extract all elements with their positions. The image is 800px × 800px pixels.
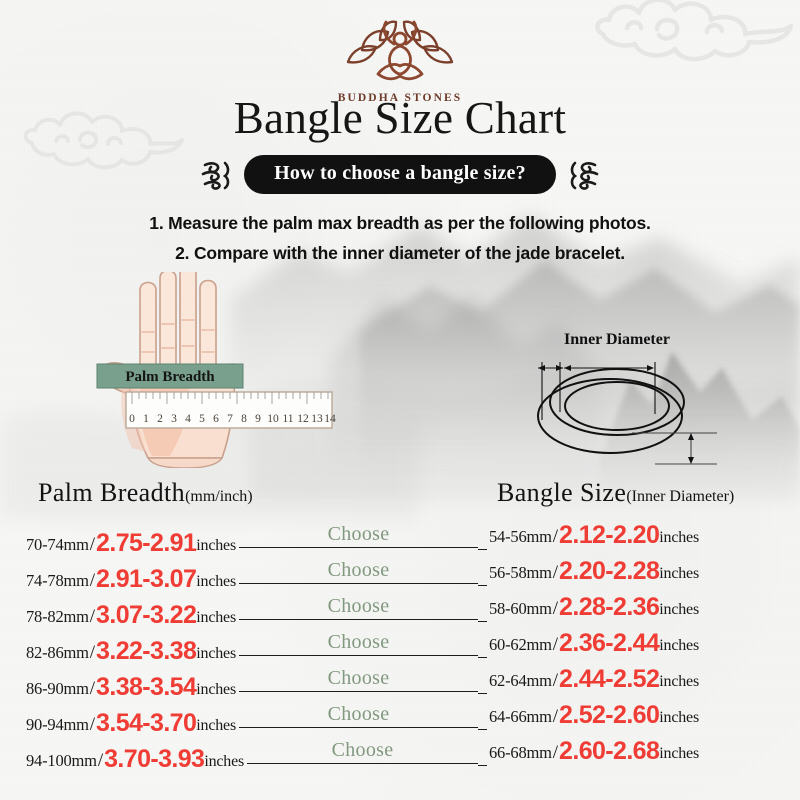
bangle-size-mm-value: 64-66mm: [489, 707, 552, 727]
svg-text:8: 8: [241, 413, 247, 425]
palm-breadth-heading: Palm Breadth(mm/inch): [38, 478, 253, 508]
bangle-ring-diagram: Inner Diameter: [505, 328, 730, 473]
palm-breadth-inch-value: 3.22-3.38: [96, 637, 196, 666]
palm-breadth-inch-value: 3.70-3.93: [104, 745, 204, 774]
svg-text:5: 5: [199, 413, 205, 425]
choose-size-field[interactable]: Choose: [247, 736, 478, 766]
choose-size-field[interactable]: Choose: [239, 628, 478, 658]
table-row: 66-68mm/2.60-2.68inches: [487, 736, 787, 772]
palm-breadth-inch-value: 3.54-3.70: [96, 709, 196, 738]
choose-size-field[interactable]: Choose: [239, 556, 478, 586]
choose-label: Choose: [328, 667, 390, 690]
choose-size-field[interactable]: Choose: [239, 664, 478, 694]
table-row: 58-60mm/2.28-2.36inches: [487, 592, 787, 628]
row-connector-line: [478, 549, 487, 550]
unit-label: inches: [659, 529, 699, 547]
palm-breadth-mm-value: 70-74mm: [26, 535, 89, 555]
choose-underline: [239, 583, 478, 584]
palm-breadth-mm-value: 78-82mm: [26, 607, 89, 627]
choose-label: Choose: [328, 523, 390, 546]
palm-breadth-table: 70-74mm/2.75-2.91inchesChoose74-78mm/2.9…: [26, 520, 478, 772]
svg-text:1: 1: [143, 413, 149, 425]
svg-text:11: 11: [282, 413, 293, 425]
row-connector-line: [478, 729, 487, 730]
table-row: 62-64mm/2.44-2.52inches: [487, 664, 787, 700]
bangle-size-heading-sub: (Inner Diameter): [626, 488, 734, 505]
bangle-size-inch-value: 2.28-2.36: [559, 593, 659, 622]
choose-label: Choose: [328, 631, 390, 654]
svg-text:2: 2: [157, 413, 163, 425]
open-palm-hand-illustration: Palm Breadth 0 1 2 3 4 5 6 7 8 9 10 11 1…: [96, 272, 336, 468]
table-row: 94-100mm/3.70-3.93inchesChoose: [26, 736, 478, 772]
palm-breadth-mm-value: 86-90mm: [26, 679, 89, 699]
bangle-size-inch-value: 2.20-2.28: [559, 557, 659, 586]
bangle-size-heading-main: Bangle Size: [497, 478, 626, 507]
choose-size-field[interactable]: Choose: [239, 592, 478, 622]
svg-text:6: 6: [213, 413, 219, 425]
unit-separator: /: [89, 678, 96, 700]
svg-text:4: 4: [185, 413, 191, 425]
bangle-size-mm-value: 62-64mm: [489, 671, 552, 691]
choose-underline: [239, 727, 478, 728]
choose-underline: [239, 691, 478, 692]
svg-text:9: 9: [255, 413, 261, 425]
unit-label: inches: [196, 573, 236, 591]
bangle-size-inch-value: 2.12-2.20: [559, 521, 659, 550]
question-banner: How to choose a bangle size?: [0, 155, 800, 194]
row-connector-line: [478, 693, 487, 694]
unit-label: inches: [659, 601, 699, 619]
choose-underline: [247, 763, 478, 764]
palm-breadth-inch-value: 3.38-3.54: [96, 673, 196, 702]
table-row: 70-74mm/2.75-2.91inchesChoose: [26, 520, 478, 556]
row-connector-line: [478, 621, 487, 622]
brand-logo: BUDDHA STONES: [0, 14, 800, 104]
unit-label: inches: [196, 717, 236, 735]
choose-label: Choose: [328, 703, 390, 726]
svg-text:0: 0: [129, 413, 135, 425]
choose-label: Choose: [332, 739, 394, 762]
choose-label: Choose: [328, 595, 390, 618]
unit-separator: /: [89, 570, 96, 592]
bangle-size-inch-value: 2.52-2.60: [559, 701, 659, 730]
unit-separator: /: [552, 526, 559, 548]
table-row: 78-82mm/3.07-3.22inchesChoose: [26, 592, 478, 628]
palm-breadth-inch-value: 2.75-2.91: [96, 529, 196, 558]
palm-breadth-band-label: Palm Breadth: [125, 369, 215, 385]
bangle-size-heading: Bangle Size(Inner Diameter): [497, 478, 734, 508]
palm-breadth-heading-sub: (mm/inch): [185, 488, 253, 505]
page-title: Bangle Size Chart: [0, 92, 800, 144]
instruction-steps: 1. Measure the palm max breadth as per t…: [0, 208, 800, 268]
bangle-size-inch-value: 2.44-2.52: [559, 665, 659, 694]
instruction-step-2: 2. Compare with the inner diameter of th…: [0, 238, 800, 268]
row-connector-line: [478, 765, 487, 766]
svg-text:7: 7: [227, 413, 233, 425]
choose-underline: [239, 547, 478, 548]
unit-label: inches: [196, 609, 236, 627]
unit-label: inches: [196, 537, 236, 555]
svg-text:13: 13: [311, 413, 323, 425]
bangle-size-mm-value: 54-56mm: [489, 527, 552, 547]
ruler-icon: 0 1 2 3 4 5 6 7 8 9 10 11 12 13 14: [126, 392, 336, 428]
svg-text:12: 12: [297, 413, 309, 425]
bangle-size-mm-value: 66-68mm: [489, 743, 552, 763]
bangle-size-mm-value: 60-62mm: [489, 635, 552, 655]
inner-diameter-caption: Inner Diameter: [564, 331, 670, 348]
table-row: 90-94mm/3.54-3.70inchesChoose: [26, 700, 478, 736]
unit-separator: /: [552, 742, 559, 764]
bangle-size-mm-value: 56-58mm: [489, 563, 552, 583]
bangle-size-inch-value: 2.36-2.44: [559, 629, 659, 658]
svg-text:14: 14: [324, 413, 336, 425]
unit-label: inches: [659, 637, 699, 655]
lotus-meditation-icon: [338, 14, 462, 86]
unit-separator: /: [552, 706, 559, 728]
unit-label: inches: [196, 645, 236, 663]
bangle-size-table: 54-56mm/2.12-2.20inches56-58mm/2.20-2.28…: [487, 520, 787, 772]
table-row: 56-58mm/2.20-2.28inches: [487, 556, 787, 592]
unit-separator: /: [552, 670, 559, 692]
table-row: 54-56mm/2.12-2.20inches: [487, 520, 787, 556]
choose-underline: [239, 619, 478, 620]
choose-underline: [239, 655, 478, 656]
table-row: 82-86mm/3.22-3.38inchesChoose: [26, 628, 478, 664]
choose-size-field[interactable]: Choose: [239, 520, 478, 550]
palm-breadth-inch-value: 3.07-3.22: [96, 601, 196, 630]
how-to-choose-label: How to choose a bangle size?: [244, 155, 556, 194]
row-connector-line: [478, 657, 487, 658]
ink-flourish-icon: [199, 157, 233, 193]
svg-text:3: 3: [171, 413, 177, 425]
unit-label: inches: [204, 753, 244, 771]
unit-label: inches: [659, 565, 699, 583]
palm-breadth-mm-value: 90-94mm: [26, 715, 89, 735]
bangle-size-inch-value: 2.60-2.68: [559, 737, 659, 766]
palm-breadth-mm-value: 94-100mm: [26, 751, 97, 771]
palm-breadth-mm-value: 74-78mm: [26, 571, 89, 591]
palm-breadth-inch-value: 2.91-3.07: [96, 565, 196, 594]
unit-separator: /: [552, 634, 559, 656]
row-connector-line: [478, 585, 487, 586]
palm-breadth-mm-value: 82-86mm: [26, 643, 89, 663]
table-row: 60-62mm/2.36-2.44inches: [487, 628, 787, 664]
svg-text:10: 10: [267, 413, 279, 425]
unit-separator: /: [89, 606, 96, 628]
unit-separator: /: [89, 642, 96, 664]
table-row: 64-66mm/2.52-2.60inches: [487, 700, 787, 736]
table-row: 74-78mm/2.91-3.07inchesChoose: [26, 556, 478, 592]
bangle-size-chart-page: BUDDHA STONES Bangle Size Chart How to c…: [0, 0, 800, 800]
unit-label: inches: [659, 709, 699, 727]
unit-label: inches: [659, 745, 699, 763]
unit-separator: /: [97, 750, 104, 772]
ink-flourish-icon: [567, 157, 601, 193]
unit-separator: /: [552, 598, 559, 620]
palm-breadth-heading-main: Palm Breadth: [38, 478, 185, 507]
bangle-size-mm-value: 58-60mm: [489, 599, 552, 619]
unit-separator: /: [89, 534, 96, 556]
unit-label: inches: [196, 681, 236, 699]
choose-size-field[interactable]: Choose: [239, 700, 478, 730]
instruction-step-1: 1. Measure the palm max breadth as per t…: [0, 208, 800, 238]
unit-label: inches: [659, 673, 699, 691]
unit-separator: /: [89, 714, 96, 736]
choose-label: Choose: [328, 559, 390, 582]
table-row: 86-90mm/3.38-3.54inchesChoose: [26, 664, 478, 700]
unit-separator: /: [552, 562, 559, 584]
